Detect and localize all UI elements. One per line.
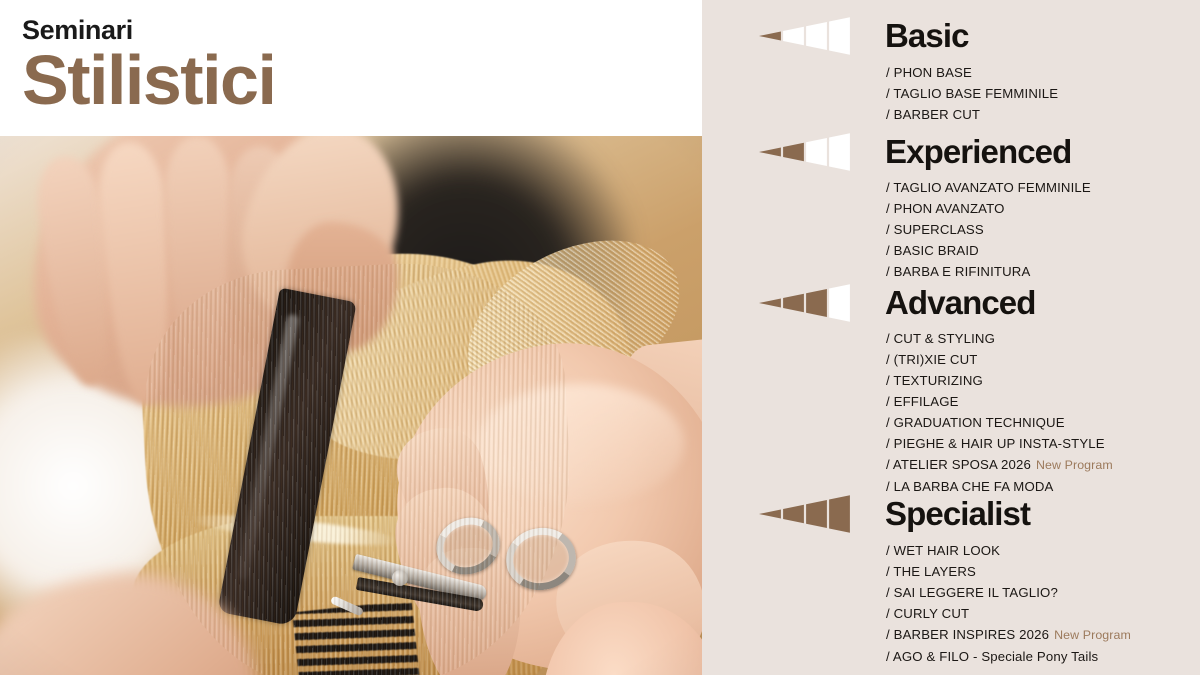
course-item[interactable]: / BARBER INSPIRES 2026New Program — [886, 624, 1131, 646]
course-item[interactable]: / TEXTURIZING — [886, 370, 1113, 391]
course-item[interactable]: / GRADUATION TECHNIQUE — [886, 412, 1113, 433]
course-item[interactable]: / AGO & FILO - Speciale Pony Tails — [886, 646, 1131, 667]
course-label: / TAGLIO AVANZATO FEMMINILE — [886, 180, 1091, 195]
course-item[interactable]: / PHON AVANZATO — [886, 198, 1091, 219]
course-item[interactable]: / LA BARBA CHE FA MODA — [886, 476, 1113, 497]
course-label: / CURLY CUT — [886, 606, 969, 621]
course-item[interactable]: / BARBA E RIFINITURA — [886, 261, 1091, 282]
page-title: Stilistici — [22, 42, 702, 118]
course-label: / BARBER INSPIRES 2026 — [886, 627, 1049, 642]
left-column: Seminari Stilistici — [0, 0, 702, 675]
course-label: / WET HAIR LOOK — [886, 543, 1000, 558]
new-program-badge: New Program — [1054, 628, 1131, 642]
course-label: / PIEGHE & HAIR UP INSTA-STYLE — [886, 436, 1105, 451]
course-item[interactable]: / THE LAYERS — [886, 561, 1131, 582]
course-label: / THE LAYERS — [886, 564, 976, 579]
course-label: / ATELIER SPOSA 2026 — [886, 457, 1031, 472]
title-block: Seminari Stilistici — [0, 0, 702, 136]
levels-panel: Basic/ PHON BASE/ TAGLIO BASE FEMMINILE/… — [702, 0, 1200, 675]
course-list: / WET HAIR LOOK/ THE LAYERS/ SAI LEGGERE… — [886, 540, 1131, 667]
course-label: / (TRI)XIE CUT — [886, 352, 977, 367]
level-arrow-icon — [757, 494, 853, 534]
course-item[interactable]: / ATELIER SPOSA 2026New Program — [886, 454, 1113, 476]
course-label: / SAI LEGGERE IL TAGLIO? — [886, 585, 1058, 600]
photo-knuckles — [478, 384, 684, 504]
course-list: / CUT & STYLING/ (TRI)XIE CUT/ TEXTURIZI… — [886, 328, 1113, 497]
course-label: / AGO & FILO - Speciale Pony Tails — [886, 649, 1098, 664]
course-item[interactable]: / TAGLIO AVANZATO FEMMINILE — [886, 177, 1091, 198]
level-arrow-icon — [757, 283, 853, 323]
course-label: / PHON BASE — [886, 65, 972, 80]
course-item[interactable]: / CURLY CUT — [886, 603, 1131, 624]
course-label: / BARBER CUT — [886, 107, 980, 122]
course-label: / SUPERCLASS — [886, 222, 984, 237]
level-arrow-icon — [757, 132, 853, 172]
level-title: Experienced — [885, 134, 1071, 170]
course-label: / CUT & STYLING — [886, 331, 995, 346]
course-label: / BARBA E RIFINITURA — [886, 264, 1030, 279]
course-item[interactable]: / CUT & STYLING — [886, 328, 1113, 349]
course-label: / TAGLIO BASE FEMMINILE — [886, 86, 1058, 101]
course-label: / EFFILAGE — [886, 394, 959, 409]
hero-photo — [0, 136, 702, 675]
course-item[interactable]: / TAGLIO BASE FEMMINILE — [886, 83, 1058, 104]
course-item[interactable]: / PIEGHE & HAIR UP INSTA-STYLE — [886, 433, 1113, 454]
course-label: / GRADUATION TECHNIQUE — [886, 415, 1065, 430]
new-program-badge: New Program — [1036, 458, 1113, 472]
course-item[interactable]: / EFFILAGE — [886, 391, 1113, 412]
course-label: / BASIC BRAID — [886, 243, 979, 258]
course-item[interactable]: / BASIC BRAID — [886, 240, 1091, 261]
level-title: Advanced — [885, 285, 1036, 321]
course-list: / TAGLIO AVANZATO FEMMINILE/ PHON AVANZA… — [886, 177, 1091, 282]
level-arrow-icon — [757, 16, 853, 56]
course-item[interactable]: / BARBER CUT — [886, 104, 1058, 125]
course-item[interactable]: / SAI LEGGERE IL TAGLIO? — [886, 582, 1131, 603]
course-list: / PHON BASE/ TAGLIO BASE FEMMINILE/ BARB… — [886, 62, 1058, 125]
course-label: / PHON AVANZATO — [886, 201, 1005, 216]
level-title: Basic — [885, 18, 969, 54]
course-label: / LA BARBA CHE FA MODA — [886, 479, 1053, 494]
level-title: Specialist — [885, 496, 1030, 532]
course-item[interactable]: / WET HAIR LOOK — [886, 540, 1131, 561]
course-label: / TEXTURIZING — [886, 373, 983, 388]
course-item[interactable]: / (TRI)XIE CUT — [886, 349, 1113, 370]
photo-scissor-screw — [392, 570, 408, 586]
slide-root: Seminari Stilistici — [0, 0, 1200, 675]
course-item[interactable]: / PHON BASE — [886, 62, 1058, 83]
course-item[interactable]: / SUPERCLASS — [886, 219, 1091, 240]
